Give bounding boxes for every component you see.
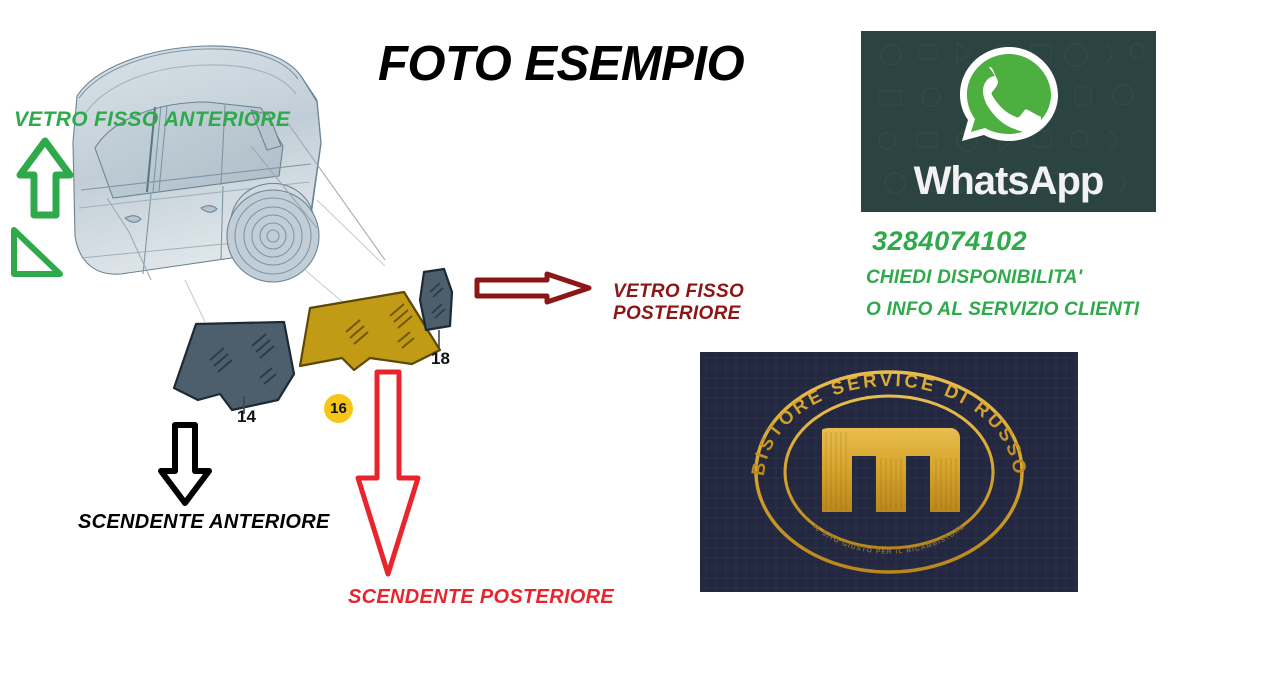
shop-logo-graphic: MRICAMBISTORE SERVICE DI RUSSO MARCO IL …	[700, 352, 1078, 592]
part-number-14: 14	[237, 407, 256, 427]
dark-red-right-arrow-icon	[473, 271, 593, 305]
whatsapp-phone-number[interactable]: 3284074102	[872, 226, 1027, 257]
whatsapp-banner[interactable]: WhatsApp	[861, 31, 1156, 212]
screenshot-canvas: 14 17 18 16 FOTO ESEMPIO VETRO FISSO ANT…	[0, 0, 1264, 678]
cta-line-2: O INFO AL SERVIZIO CLIENTI	[866, 299, 1139, 321]
whatsapp-logo	[951, 43, 1067, 159]
whatsapp-wordmark: WhatsApp	[861, 159, 1156, 204]
label-vetro-fisso-posteriore: VETRO FISSO POSTERIORE	[613, 281, 744, 326]
page-title: FOTO ESEMPIO	[378, 36, 798, 92]
red-long-down-arrow-icon	[352, 368, 424, 580]
shop-logo-image: MRICAMBISTORE SERVICE DI RUSSO MARCO IL …	[700, 352, 1078, 592]
green-triangle-icon	[6, 224, 66, 282]
label-vfp-line1: VETRO FISSO	[613, 281, 744, 302]
part-18-fixed-quarter-glass	[414, 266, 458, 338]
cta-line-1: CHIEDI DISPONIBILITA'	[866, 267, 1082, 289]
black-down-arrow-icon	[156, 421, 214, 507]
green-up-arrow-icon	[14, 137, 76, 221]
part-number-16-badge: 16	[324, 394, 353, 423]
whatsapp-phone-icon	[951, 43, 1067, 159]
label-vetro-fisso-anteriore: VETRO FISSO ANTERIORE	[14, 108, 290, 133]
part-number-18: 18	[431, 349, 450, 369]
label-vfp-line2: POSTERIORE	[613, 303, 741, 324]
label-scendente-anteriore: SCENDENTE ANTERIORE	[78, 511, 330, 535]
label-scendente-posteriore: SCENDENTE POSTERIORE	[348, 586, 614, 610]
